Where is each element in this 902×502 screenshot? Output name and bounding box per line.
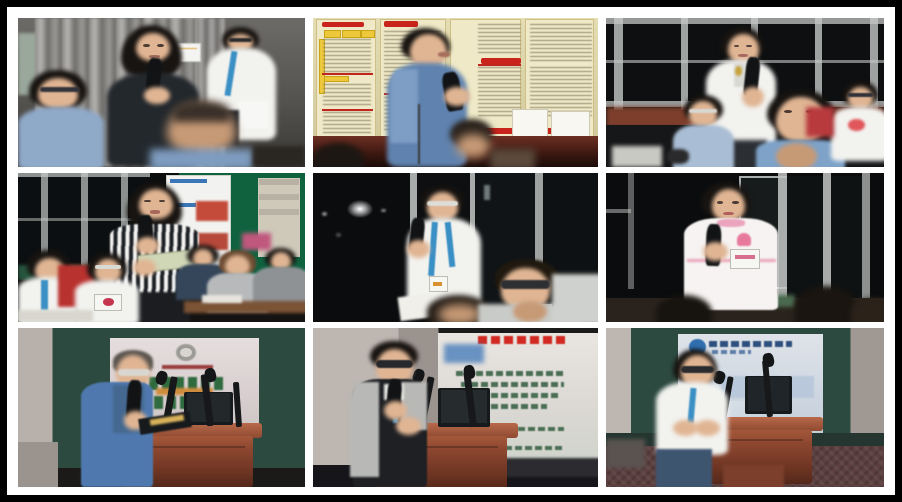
- photo-2-scene: [313, 18, 598, 167]
- photo-6[interactable]: Nurse in a white uniform with pink trim …: [606, 173, 884, 322]
- photo-5-scene: [313, 173, 598, 322]
- photo-7-scene: [18, 328, 305, 487]
- photo-4[interactable]: Woman in black-and-white striped shirt s…: [18, 173, 305, 322]
- photo-6-scene: [606, 173, 884, 322]
- photo-1-scene: [18, 18, 305, 167]
- collage-frame: Woman in dark top speaking into a handhe…: [0, 0, 902, 502]
- photo-8-scene: [313, 328, 598, 487]
- photo-3-scene: [606, 18, 884, 167]
- photo-5[interactable]: Man with glasses in a white shirt speaki…: [313, 173, 598, 322]
- photo-3[interactable]: Woman in white shirt standing and speaki…: [606, 18, 884, 167]
- photo-8[interactable]: Speaker in a grey vest presenting at the…: [313, 328, 598, 487]
- photo-4-scene: [18, 173, 305, 322]
- collage-mat: Woman in dark top speaking into a handhe…: [7, 7, 895, 495]
- photo-9-scene: [606, 328, 884, 487]
- photo-2[interactable]: Man in blue shirt asking a question with…: [313, 18, 598, 167]
- photo-1[interactable]: Woman in dark top speaking into a handhe…: [18, 18, 305, 167]
- photo-7[interactable]: Man in a blue jacket reading at a wooden…: [18, 328, 305, 487]
- photo-9[interactable]: Woman in a white jacket presenting at th…: [606, 328, 884, 487]
